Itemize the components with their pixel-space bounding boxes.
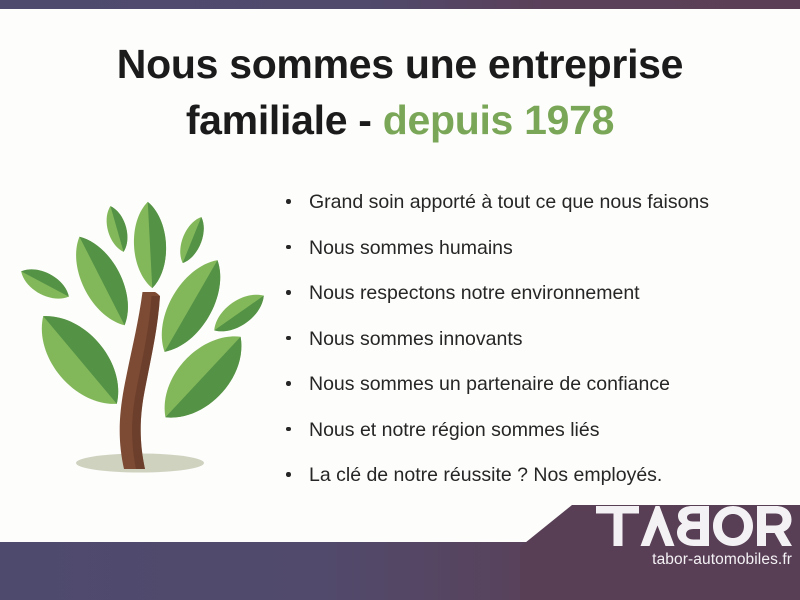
top-accent-band bbox=[0, 0, 800, 9]
tree-leaf bbox=[62, 228, 141, 334]
bullet-dot bbox=[286, 245, 291, 250]
bullet-dot bbox=[286, 427, 291, 432]
page-title-line2-accent: depuis 1978 bbox=[383, 97, 614, 143]
slide-canvas: Nous sommes une entreprise familiale - d… bbox=[0, 0, 800, 600]
tree-leaf bbox=[16, 262, 74, 307]
value-list: Grand soin apporté à tout ce que nous fa… bbox=[283, 190, 783, 509]
page-title-line1: Nous sommes une entreprise bbox=[117, 41, 683, 87]
bullet-dot bbox=[286, 381, 291, 386]
page-title-line2-black: familiale - bbox=[186, 97, 383, 143]
list-item: Grand soin apporté à tout ce que nous fa… bbox=[283, 190, 783, 214]
list-item: Nous et notre région sommes liés bbox=[283, 418, 783, 442]
list-item-label: La clé de notre réussite ? Nos employés. bbox=[309, 464, 662, 486]
list-item-label: Nous respectons notre environnement bbox=[309, 282, 640, 304]
list-item-label: Nous sommes innovants bbox=[309, 328, 523, 350]
tree-leaf bbox=[102, 204, 133, 255]
list-item-label: Nous sommes un partenaire de confiance bbox=[309, 373, 670, 395]
tree-illustration bbox=[14, 192, 266, 488]
brand-url[interactable]: tabor-automobiles.fr bbox=[596, 551, 792, 569]
bullet-dot bbox=[286, 472, 291, 477]
list-item: Nous sommes innovants bbox=[283, 327, 783, 351]
list-item: Nous sommes humains bbox=[283, 236, 783, 260]
tree-icon bbox=[14, 192, 266, 488]
page-title: Nous sommes une entreprise familiale - d… bbox=[40, 36, 760, 148]
tabor-wordmark-icon bbox=[596, 506, 792, 546]
list-item: Nous sommes un partenaire de confiance bbox=[283, 372, 783, 396]
tree-leaf bbox=[174, 213, 210, 266]
tree-leaf bbox=[132, 201, 168, 289]
bullet-dot bbox=[286, 199, 291, 204]
list-item: Nous respectons notre environnement bbox=[283, 281, 783, 305]
bullet-dot bbox=[286, 290, 291, 295]
bullet-dot bbox=[286, 336, 291, 341]
brand-logo[interactable]: tabor-automobiles.fr bbox=[596, 506, 800, 586]
list-item-label: Nous sommes humains bbox=[309, 237, 513, 259]
list-item: La clé de notre réussite ? Nos employés. bbox=[283, 463, 783, 487]
list-item-label: Grand soin apporté à tout ce que nous fa… bbox=[309, 191, 709, 213]
list-item-label: Nous et notre région sommes liés bbox=[309, 419, 599, 441]
